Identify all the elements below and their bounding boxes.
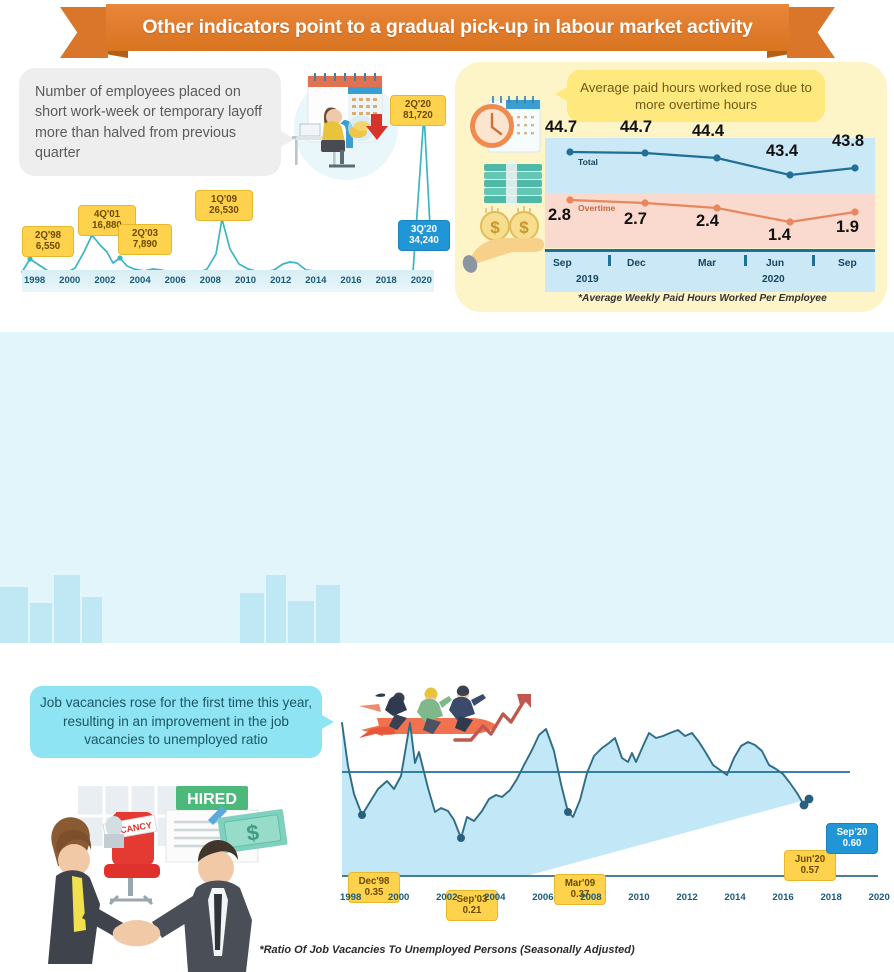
paid-hours-footnote: *Average Weekly Paid Hours Worked Per Em… [578, 293, 827, 304]
annotation-2q98-label: 2Q'98 [28, 230, 68, 241]
xtick: 2002 [94, 275, 115, 286]
total-value-sep2019: 44.7 [545, 118, 577, 137]
axis-tick-2 [744, 255, 747, 266]
annotation-jun20-label: Jun'20 [790, 854, 830, 865]
xtick: 2002 [436, 892, 457, 903]
overtime-value-sep2020: 1.9 [836, 218, 859, 237]
annotation-3q20-label: 3Q'20 [404, 224, 444, 235]
top-section: Other indicators point to a gradual pick… [0, 0, 894, 332]
overtime-value-mar2020: 2.4 [696, 212, 719, 231]
annotation-3q20: 3Q'20 34,240 [398, 220, 450, 251]
overtime-value-dec2019: 2.7 [624, 210, 647, 229]
xtick: 2006 [165, 275, 186, 286]
xtick: 2020 [411, 275, 432, 286]
xtick: 2014 [724, 892, 745, 903]
annotation-2q20-value: 81,720 [396, 110, 440, 121]
paid-hours-plot [545, 138, 875, 248]
banner-ribbon-right-icon [787, 7, 835, 58]
banner-fold-left [106, 51, 128, 58]
total-value-sep2020: 43.8 [832, 132, 864, 151]
annotation-sep20: Sep'20 0.60 [826, 823, 878, 854]
xtick: 2004 [484, 892, 505, 903]
annotation-2q98: 2Q'98 6,550 [22, 226, 74, 257]
xtick: 2012 [270, 275, 291, 286]
hr-xtick-mar: Mar [698, 258, 716, 269]
xtick: 2000 [59, 275, 80, 286]
xtick: 2018 [376, 275, 397, 286]
xtick: 2008 [580, 892, 601, 903]
annotation-2q20: 2Q'20 81,720 [390, 95, 446, 126]
xtick: 2004 [129, 275, 150, 286]
paid-hours-lines [545, 138, 875, 248]
page-title: Other indicators point to a gradual pick… [142, 16, 752, 39]
annotation-jun20: Jun'20 0.57 [784, 850, 836, 881]
annotation-mar09-label: Mar'09 [560, 878, 600, 889]
job-vacancies-ratio-chart [330, 680, 890, 920]
xtick: 2008 [200, 275, 221, 286]
annotation-2q03-value: 7,890 [124, 239, 166, 250]
total-value-jun2020: 43.4 [766, 142, 798, 161]
axis-tick-1 [608, 255, 611, 266]
hr-xtick-jun: Jun [766, 258, 784, 269]
series-label-overtime: Overtime [578, 203, 615, 213]
svg-text:$: $ [490, 218, 500, 237]
annotation-4q01-label: 4Q'01 [84, 209, 130, 220]
xtick: 1998 [340, 892, 361, 903]
annotation-2q20-label: 2Q'20 [396, 99, 440, 110]
annotation-jun20-value: 0.57 [790, 865, 830, 876]
infographic-page: Other indicators point to a gradual pick… [0, 0, 894, 643]
banner-ribbon-left-icon [60, 7, 108, 58]
annotation-sep20-label: Sep'20 [832, 827, 872, 838]
hr-xtick-sep-2020: Sep [838, 258, 857, 269]
xtick: 2014 [305, 275, 326, 286]
xtick: 2006 [532, 892, 553, 903]
city-skyline-icon [0, 523, 340, 643]
annotation-1q09: 1Q'09 26,530 [195, 190, 253, 221]
total-line [570, 152, 855, 175]
annotation-sep20-value: 0.60 [832, 838, 872, 849]
xtick: 2018 [820, 892, 841, 903]
overtime-value-jun2020: 1.4 [768, 226, 791, 245]
xtick: 2016 [340, 275, 361, 286]
xtick: 1998 [24, 275, 45, 286]
left-chart-xaxis: 1998 2000 2002 2004 2006 2008 2010 2012 … [22, 271, 434, 286]
overtime-value-sep2019: 2.8 [548, 206, 571, 225]
hr-year-2019: 2019 [576, 274, 599, 285]
xtick: 2012 [676, 892, 697, 903]
header-banner: Other indicators point to a gradual pick… [60, 4, 835, 51]
xtick: 2010 [628, 892, 649, 903]
xtick: 2020 [869, 892, 890, 903]
banner-body: Other indicators point to a gradual pick… [106, 4, 789, 51]
annotation-1q09-label: 1Q'09 [201, 194, 247, 205]
total-value-dec2019: 44.7 [620, 118, 652, 137]
hr-year-2020: 2020 [762, 274, 785, 285]
xtick: 2000 [388, 892, 409, 903]
series-label-total: Total [578, 157, 598, 167]
svg-text:$: $ [519, 218, 529, 237]
annotation-sep03-value: 0.21 [452, 905, 492, 916]
job-vacancies-footnote: *Ratio Of Job Vacancies To Unemployed Pe… [0, 944, 894, 956]
callout-paid-hours-text: Average paid hours worked rose due to mo… [577, 79, 815, 113]
axis-tick-3 [812, 255, 815, 266]
callout-job-vacancies-text: Job vacancies rose for the first time th… [40, 694, 312, 750]
bottom-chart-xaxis: 1998 2000 2002 2004 2006 2008 2010 2012 … [340, 892, 890, 903]
svg-text:HIRED: HIRED [187, 791, 237, 808]
handshake-hired-vacancy-icon: HIRED $ VACANCY [0, 772, 340, 972]
annotation-2q03: 2Q'03 7,890 [118, 224, 172, 255]
bottom-section: HIRED $ VACANCY [0, 332, 894, 643]
callout-job-vacancies: Job vacancies rose for the first time th… [30, 686, 322, 758]
xtick: 2016 [772, 892, 793, 903]
annotation-2q03-label: 2Q'03 [124, 228, 166, 239]
annotation-1q09-value: 26,530 [201, 205, 247, 216]
hr-xtick-sep-2019: Sep [553, 258, 572, 269]
hr-xtick-dec: Dec [627, 258, 646, 269]
xtick: 2010 [235, 275, 256, 286]
annotation-2q98-value: 6,550 [28, 241, 68, 252]
annotation-3q20-value: 34,240 [404, 235, 444, 246]
banner-fold-right [767, 51, 789, 58]
total-value-mar2020: 44.4 [692, 122, 724, 141]
job-vacancies-plot [330, 680, 890, 920]
annotation-dec98-label: Dec'98 [354, 876, 394, 887]
callout-paid-hours: Average paid hours worked rose due to mo… [567, 70, 825, 122]
